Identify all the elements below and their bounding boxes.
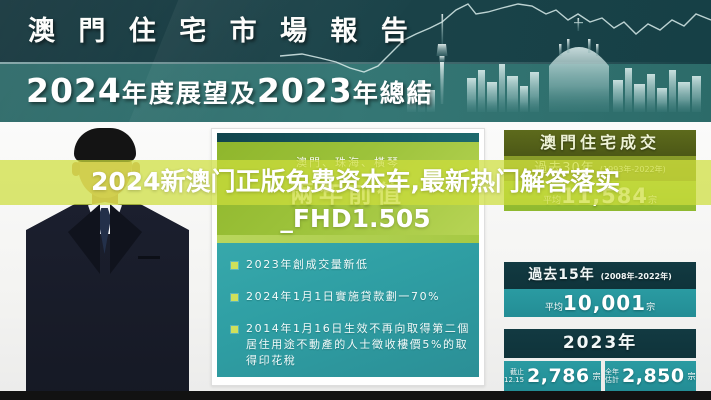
cell-forecast-label: 全年 估計: [605, 368, 619, 384]
panel-15y-unit: 宗: [646, 303, 655, 313]
header-banner: 澳 門 住 宅 市 場 報 告 2024年度展望及2023年總結: [0, 0, 711, 122]
panel-2023-cells: 截止 12.15 2,786 宗 全年 估計 2,850 宗: [504, 361, 696, 391]
panel-15y-value-row: 平均10,001宗: [504, 289, 696, 317]
subtitle-text-outlook: 年度展望及: [122, 79, 257, 108]
panel-30y-label-note: (1993年-2022年): [600, 165, 666, 174]
presenter-hair: [74, 128, 136, 162]
panel-2023-cell-forecast: 全年 估計 2,850 宗: [605, 361, 696, 391]
footer-bar: [0, 391, 711, 400]
panel-2023-cell-ytd: 截止 12.15 2,786 宗: [504, 361, 601, 391]
panel-current-year: 2023年 截止 12.15 2,786 宗 全年 估計 2,850 宗: [504, 329, 696, 391]
panel-15y-label-text: 過去15年: [528, 267, 594, 283]
panel-transactions-title: 澳門住宅成交: [504, 130, 696, 156]
bullet-text: 2024年1月1日實施貸款劃一70%: [246, 289, 440, 305]
panel-30y-label-text: 過去30年: [534, 161, 595, 176]
panel-2023-title: 2023年: [504, 329, 696, 358]
cell-ytd-label: 截止 12.15: [504, 368, 524, 384]
card-green-header: 澳門、珠海、橫琴 兩年前值: [217, 142, 479, 235]
summary-card: 澳門、珠海、橫琴 兩年前值 2023年創成交量新低 2024年1月1日實施貸款劃…: [211, 128, 485, 386]
presenter-pocket-square: [138, 256, 160, 259]
cell-forecast-unit: 宗: [688, 371, 696, 382]
panel-15y-label: 過去15年 (2008年-2022年): [504, 262, 696, 289]
bullet-marker-icon: [231, 262, 238, 269]
presenter-ear-left: [72, 162, 80, 176]
poster-root: 澳 門 住 宅 市 場 報 告 2024年度展望及2023年總結 澳門、珠海、橫…: [0, 0, 711, 400]
presenter-ear-right: [132, 162, 140, 176]
panel-30y-value-row: 平均11,584宗: [504, 181, 696, 211]
cell-ytd-label-line1: 截止: [510, 368, 524, 376]
panel-fifteen-year: 過去15年 (2008年-2022年) 平均10,001宗: [504, 262, 696, 317]
bullet-marker-icon: [231, 326, 238, 333]
panel-30y-label: 過去30年 (1993年-2022年): [504, 156, 696, 181]
presenter-photo: [20, 128, 195, 391]
cell-ytd-value: 2,786: [527, 365, 590, 387]
panel-15y-label-note: (2008年-2022年): [601, 272, 672, 281]
card-bullet-panel: 2023年創成交量新低 2024年1月1日實施貸款劃一70% 2014年1月16…: [217, 243, 479, 377]
bullet-marker-icon: [231, 294, 238, 301]
list-item: 2024年1月1日實施貸款劃一70%: [231, 289, 471, 305]
cell-ytd-unit: 宗: [593, 371, 601, 382]
list-item: 2023年創成交量新低: [231, 257, 471, 273]
panel-15y-value: 10,001: [563, 291, 646, 315]
panel-30y-value: 11,584: [561, 184, 648, 208]
panel-30y-value-prefix: 平均: [543, 196, 561, 206]
cell-ytd-label-line2: 12.15: [504, 376, 524, 384]
subtitle-year-2024: 2024: [26, 71, 122, 110]
page-title: 澳 門 住 宅 市 場 報 告: [28, 7, 415, 57]
bullet-text: 2023年創成交量新低: [246, 257, 369, 273]
subtitle-year-2023: 2023: [257, 71, 353, 110]
page-subtitle: 2024年度展望及2023年總結: [26, 68, 434, 114]
card-heading-line1: 澳門、珠海、橫琴: [217, 154, 479, 170]
subtitle-text-summary: 年總結: [353, 79, 434, 108]
card-heading-line2: 兩年前值: [217, 174, 479, 209]
panel-30y-unit: 宗: [648, 196, 657, 206]
cell-forecast-label-line1: 全年: [605, 368, 619, 376]
cell-forecast-label-line2: 估計: [605, 376, 619, 384]
list-item: 2014年1月16日生效不再向取得第二個居住用途不動產的人士徵收樓價5%的取得印…: [231, 321, 471, 369]
panel-15y-value-prefix: 平均: [545, 303, 563, 313]
cell-forecast-value: 2,850: [622, 365, 685, 387]
card-accent-bar: [217, 133, 479, 142]
card-green-highlight: [217, 235, 479, 243]
bullet-text: 2014年1月16日生效不再向取得第二個居住用途不動產的人士徵收樓價5%的取得印…: [246, 321, 471, 369]
panel-transactions: 澳門住宅成交 過去30年 (1993年-2022年) 平均11,584宗: [504, 130, 696, 211]
